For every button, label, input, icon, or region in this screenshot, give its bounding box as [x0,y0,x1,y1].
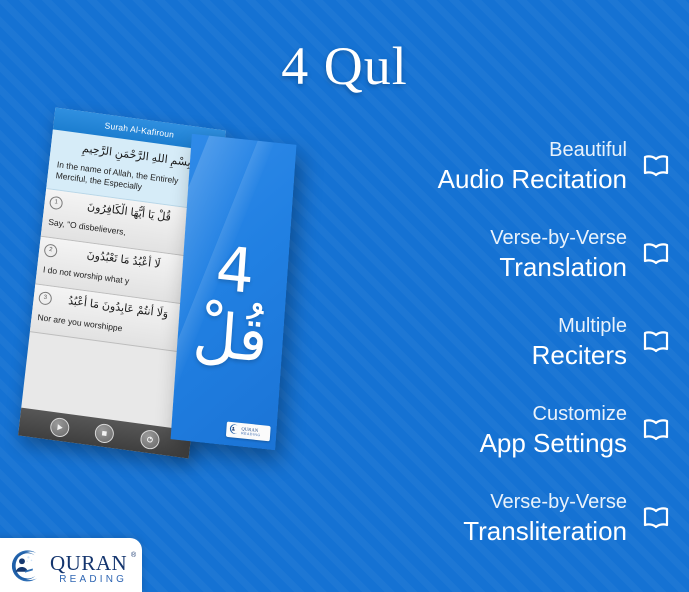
brand-name: QURAN [50,551,127,575]
card-brand-text: QURAN READING [241,426,261,438]
feature-item-audio-recitation: Beautiful Audio Recitation [323,122,673,210]
feature-text: Multiple Reciters [532,313,627,371]
feature-item-translation: Verse-by-Verse Translation [323,210,673,298]
book-icon [639,327,673,357]
promo-banner: 4 Qul Surah Al-Kafiroun بِسْمِ اللهِ الر… [0,0,689,592]
repeat-button[interactable] [139,428,160,449]
play-button[interactable] [49,416,70,437]
book-icon [639,151,673,181]
feature-text: Verse-by-Verse Translation [490,225,627,283]
feature-subtitle: Beautiful [438,137,627,163]
feature-item-reciters: Multiple Reciters [323,298,673,386]
feature-subtitle: Verse-by-Verse [490,225,627,251]
brand-wordmark: QURAN ® READING [50,552,127,585]
book-icon [639,415,673,445]
quran-reading-mark-icon [6,547,44,590]
book-icon [639,239,673,269]
feature-list: Beautiful Audio Recitation Verse-by-Vers… [323,122,673,562]
feature-item-transliteration: Verse-by-Verse Transliteration [323,474,673,562]
card-logo-text: 4 قُلْ [176,232,290,377]
registered-mark: ® [131,552,136,559]
feature-subtitle: Customize [480,401,627,427]
feature-title: Translation [490,251,627,283]
book-icon [639,503,673,533]
quran-reading-mark-icon [228,421,240,439]
stop-button[interactable] [94,422,115,443]
feature-subtitle: Verse-by-Verse [463,489,627,515]
feature-title: Transliteration [463,515,627,547]
card-brand-badge: QURAN READING [226,421,271,441]
feature-subtitle: Multiple [532,313,627,339]
feature-text: Beautiful Audio Recitation [438,137,627,195]
feature-text: Customize App Settings [480,401,627,459]
feature-title: Audio Recitation [438,163,627,195]
app-icon-card: 4 قُلْ QURAN READING [171,134,297,450]
brand-tagline: READING [50,574,127,585]
feature-title: App Settings [480,427,627,459]
feature-title: Reciters [532,339,627,371]
page-title: 4 Qul [0,36,689,96]
feature-text: Verse-by-Verse Transliteration [463,489,627,547]
audio-controls-bar [18,408,192,459]
feature-item-app-settings: Customize App Settings [323,386,673,474]
app-title-text: Surah Al-Kafiroun [104,120,175,139]
brand-logo: QURAN ® READING [0,538,142,592]
